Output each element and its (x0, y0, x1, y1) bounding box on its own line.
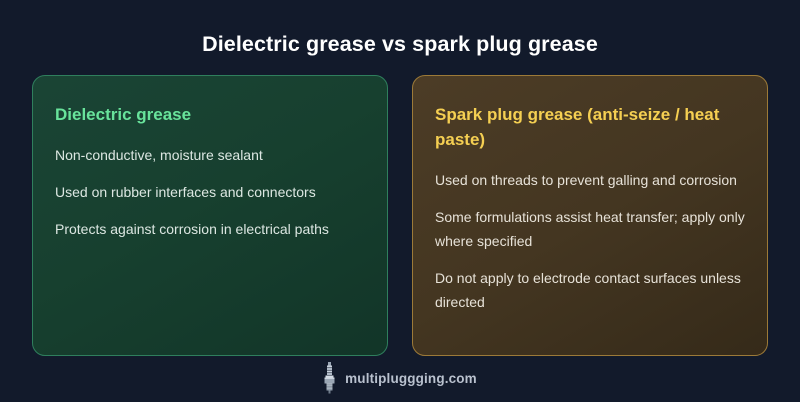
list-item: Used on threads to prevent galling and c… (435, 168, 745, 192)
infographic-page: Dielectric grease vs spark plug grease D… (0, 0, 800, 402)
card-heading-spark-plug-grease: Spark plug grease (anti-seize / heat pas… (435, 102, 745, 152)
card-list-dielectric-grease: Non-conductive, moisture sealant Used on… (55, 143, 365, 241)
card-heading-dielectric-grease: Dielectric grease (55, 102, 365, 127)
page-title: Dielectric grease vs spark plug grease (0, 30, 800, 58)
card-spark-plug-grease: Spark plug grease (anti-seize / heat pas… (412, 75, 768, 356)
comparison-cards-row: Dielectric grease Non-conductive, moistu… (0, 75, 800, 356)
list-item: Do not apply to electrode contact surfac… (435, 266, 745, 314)
title-bar: Dielectric grease vs spark plug grease (0, 0, 800, 58)
card-list-spark-plug-grease: Used on threads to prevent galling and c… (435, 168, 745, 314)
footer-site-name: multipluggging.com (345, 371, 477, 386)
card-dielectric-grease: Dielectric grease Non-conductive, moistu… (32, 75, 388, 356)
list-item: Non-conductive, moisture sealant (55, 143, 365, 167)
list-item: Some formulations assist heat transfer; … (435, 205, 745, 253)
list-item: Protects against corrosion in electrical… (55, 217, 365, 241)
list-item: Used on rubber interfaces and connectors (55, 180, 365, 204)
footer-branding: multipluggging.com (0, 362, 800, 394)
spark-plug-icon (323, 362, 336, 394)
